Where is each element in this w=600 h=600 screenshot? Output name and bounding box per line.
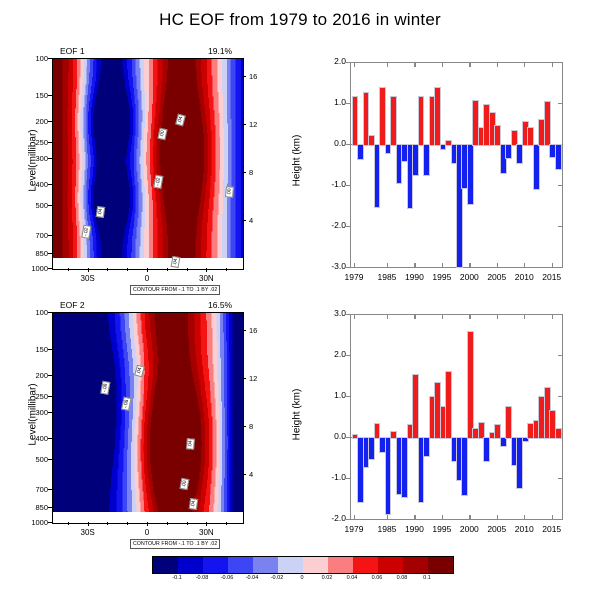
- lat-tick-label: 30S: [72, 528, 104, 537]
- y-tick-label: 2.0: [312, 349, 346, 359]
- y-tick-label: 3.0: [312, 308, 346, 318]
- colorbar: -0.1-0.08-0.06-0.04-0.0200.020.040.060.0…: [0, 540, 600, 584]
- bar-1980: [357, 144, 364, 160]
- bar-1996: [445, 371, 452, 439]
- contour-label: .04: [186, 438, 195, 450]
- y-axis-label-eof2: Level(millibar): [28, 360, 39, 470]
- colorbar-swatch-1: [178, 557, 203, 573]
- colorbar-swatch-4: [253, 557, 278, 573]
- bar-1991: [418, 96, 425, 146]
- lat-tick-label: 30N: [190, 528, 222, 537]
- height-tick-label: 12: [249, 120, 271, 129]
- level-tick-label: 100: [18, 54, 48, 63]
- contour-label: .04: [96, 206, 105, 218]
- level-tick-label: 150: [18, 345, 48, 354]
- variance-pct-eof2: 16.5%: [208, 300, 232, 310]
- contour-label: .04: [189, 498, 198, 510]
- y-tick-label: 1.0: [312, 390, 346, 400]
- bar-1999: [461, 437, 468, 496]
- colorbar-swatch-2: [203, 557, 228, 573]
- contour-panel-eof1: EOF 119.1%100150200250300400500700850100…: [0, 36, 300, 294]
- contour-field-eof2: [53, 313, 243, 523]
- contour-label: .00: [225, 186, 234, 198]
- year-tick-label: 2015: [532, 272, 572, 282]
- bar-2014: [544, 101, 551, 146]
- bar-1983: [374, 144, 381, 208]
- y-axis-label-eof1: Level(millibar): [28, 106, 39, 216]
- y-tick-label: -1.0: [312, 179, 346, 189]
- bar-chart-eof1: 2.01.00.0-1.0-2.0-3.01979198519901995200…: [300, 40, 600, 295]
- y-tick-label: 0.0: [312, 431, 346, 441]
- level-tick-label: 150: [18, 91, 48, 100]
- contour-panel-eof2: EOF 216.5%100150200250300400500700850100…: [0, 290, 300, 548]
- colorbar-strip: [152, 556, 454, 574]
- lat-tick-label: 0: [131, 528, 163, 537]
- bar-2012: [533, 144, 540, 190]
- bar-2016: [555, 144, 562, 170]
- colorbar-swatch-11: [428, 557, 453, 573]
- bar-2009: [516, 437, 523, 489]
- bar-1990: [412, 144, 419, 176]
- lat-tick-label: 30N: [190, 274, 222, 283]
- y-tick-label: -2.0: [312, 220, 346, 230]
- colorbar-swatch-9: [378, 557, 403, 573]
- bar-chart-eof2: 3.02.01.00.0-1.0-2.019791985199019952000…: [300, 292, 600, 547]
- level-tick-label: 100: [18, 308, 48, 317]
- colorbar-tick-label: 0.1: [411, 575, 443, 581]
- colorbar-swatch-10: [403, 557, 428, 573]
- lat-tick-label: 0: [131, 274, 163, 283]
- bar-1979: [352, 96, 359, 146]
- height-tick-label: 12: [249, 374, 271, 383]
- bar-1984: [379, 87, 386, 146]
- height-tick-label: 8: [249, 422, 271, 431]
- contour-title-eof2: EOF 2: [60, 300, 85, 310]
- colorbar-swatch-0: [153, 557, 178, 573]
- bar-1986: [390, 96, 397, 146]
- colorbar-swatch-8: [353, 557, 378, 573]
- colorbar-swatch-5: [278, 557, 303, 573]
- bar-1990: [412, 374, 419, 439]
- bar-1988: [401, 437, 408, 498]
- contour-title-eof1: EOF 1: [60, 46, 85, 56]
- height-tick-label: 16: [249, 72, 271, 81]
- height-tick-label: 4: [249, 470, 271, 479]
- bar-2016: [555, 428, 562, 439]
- lat-tick-label: 30S: [72, 274, 104, 283]
- bar-1994: [434, 87, 441, 146]
- bar-2003: [483, 437, 490, 462]
- bar-1982: [368, 437, 375, 460]
- y-tick-label: 1.0: [312, 97, 346, 107]
- bar-2007: [505, 144, 512, 159]
- bar-1992: [423, 144, 430, 176]
- height-tick-label: 16: [249, 326, 271, 335]
- level-tick-label: 700: [18, 231, 48, 240]
- bar-1985: [385, 437, 392, 515]
- y-tick-label: 2.0: [312, 56, 346, 66]
- page-title: HC EOF from 1979 to 2016 in winter: [0, 10, 600, 30]
- bar-2000: [467, 331, 474, 439]
- y-tick-label: -2.0: [312, 513, 346, 523]
- y-tick-label: -3.0: [312, 261, 346, 271]
- y-tick-label: 0.0: [312, 138, 346, 148]
- colorbar-swatch-3: [228, 557, 253, 573]
- height-tick-label: 4: [249, 216, 271, 225]
- colorbar-swatch-6: [303, 557, 328, 573]
- contour-plot-area-eof1: [52, 58, 244, 270]
- y-tick-label: -1.0: [312, 472, 346, 482]
- variance-pct-eof1: 19.1%: [208, 46, 232, 56]
- contour-plot-area-eof2: [52, 312, 244, 524]
- bar-2009: [516, 144, 523, 164]
- level-tick-label: 1000: [18, 264, 48, 273]
- bar-2007: [505, 406, 512, 439]
- level-tick-label: 850: [18, 249, 48, 258]
- level-tick-label: 850: [18, 503, 48, 512]
- bar-2000: [467, 144, 474, 205]
- level-tick-label: 700: [18, 485, 48, 494]
- bar-2005: [494, 125, 501, 146]
- colorbar-swatch-7: [328, 557, 353, 573]
- bar-1992: [423, 437, 430, 457]
- year-tick-label: 2015: [532, 524, 572, 534]
- level-tick-label: 1000: [18, 518, 48, 527]
- height-tick-label: 8: [249, 168, 271, 177]
